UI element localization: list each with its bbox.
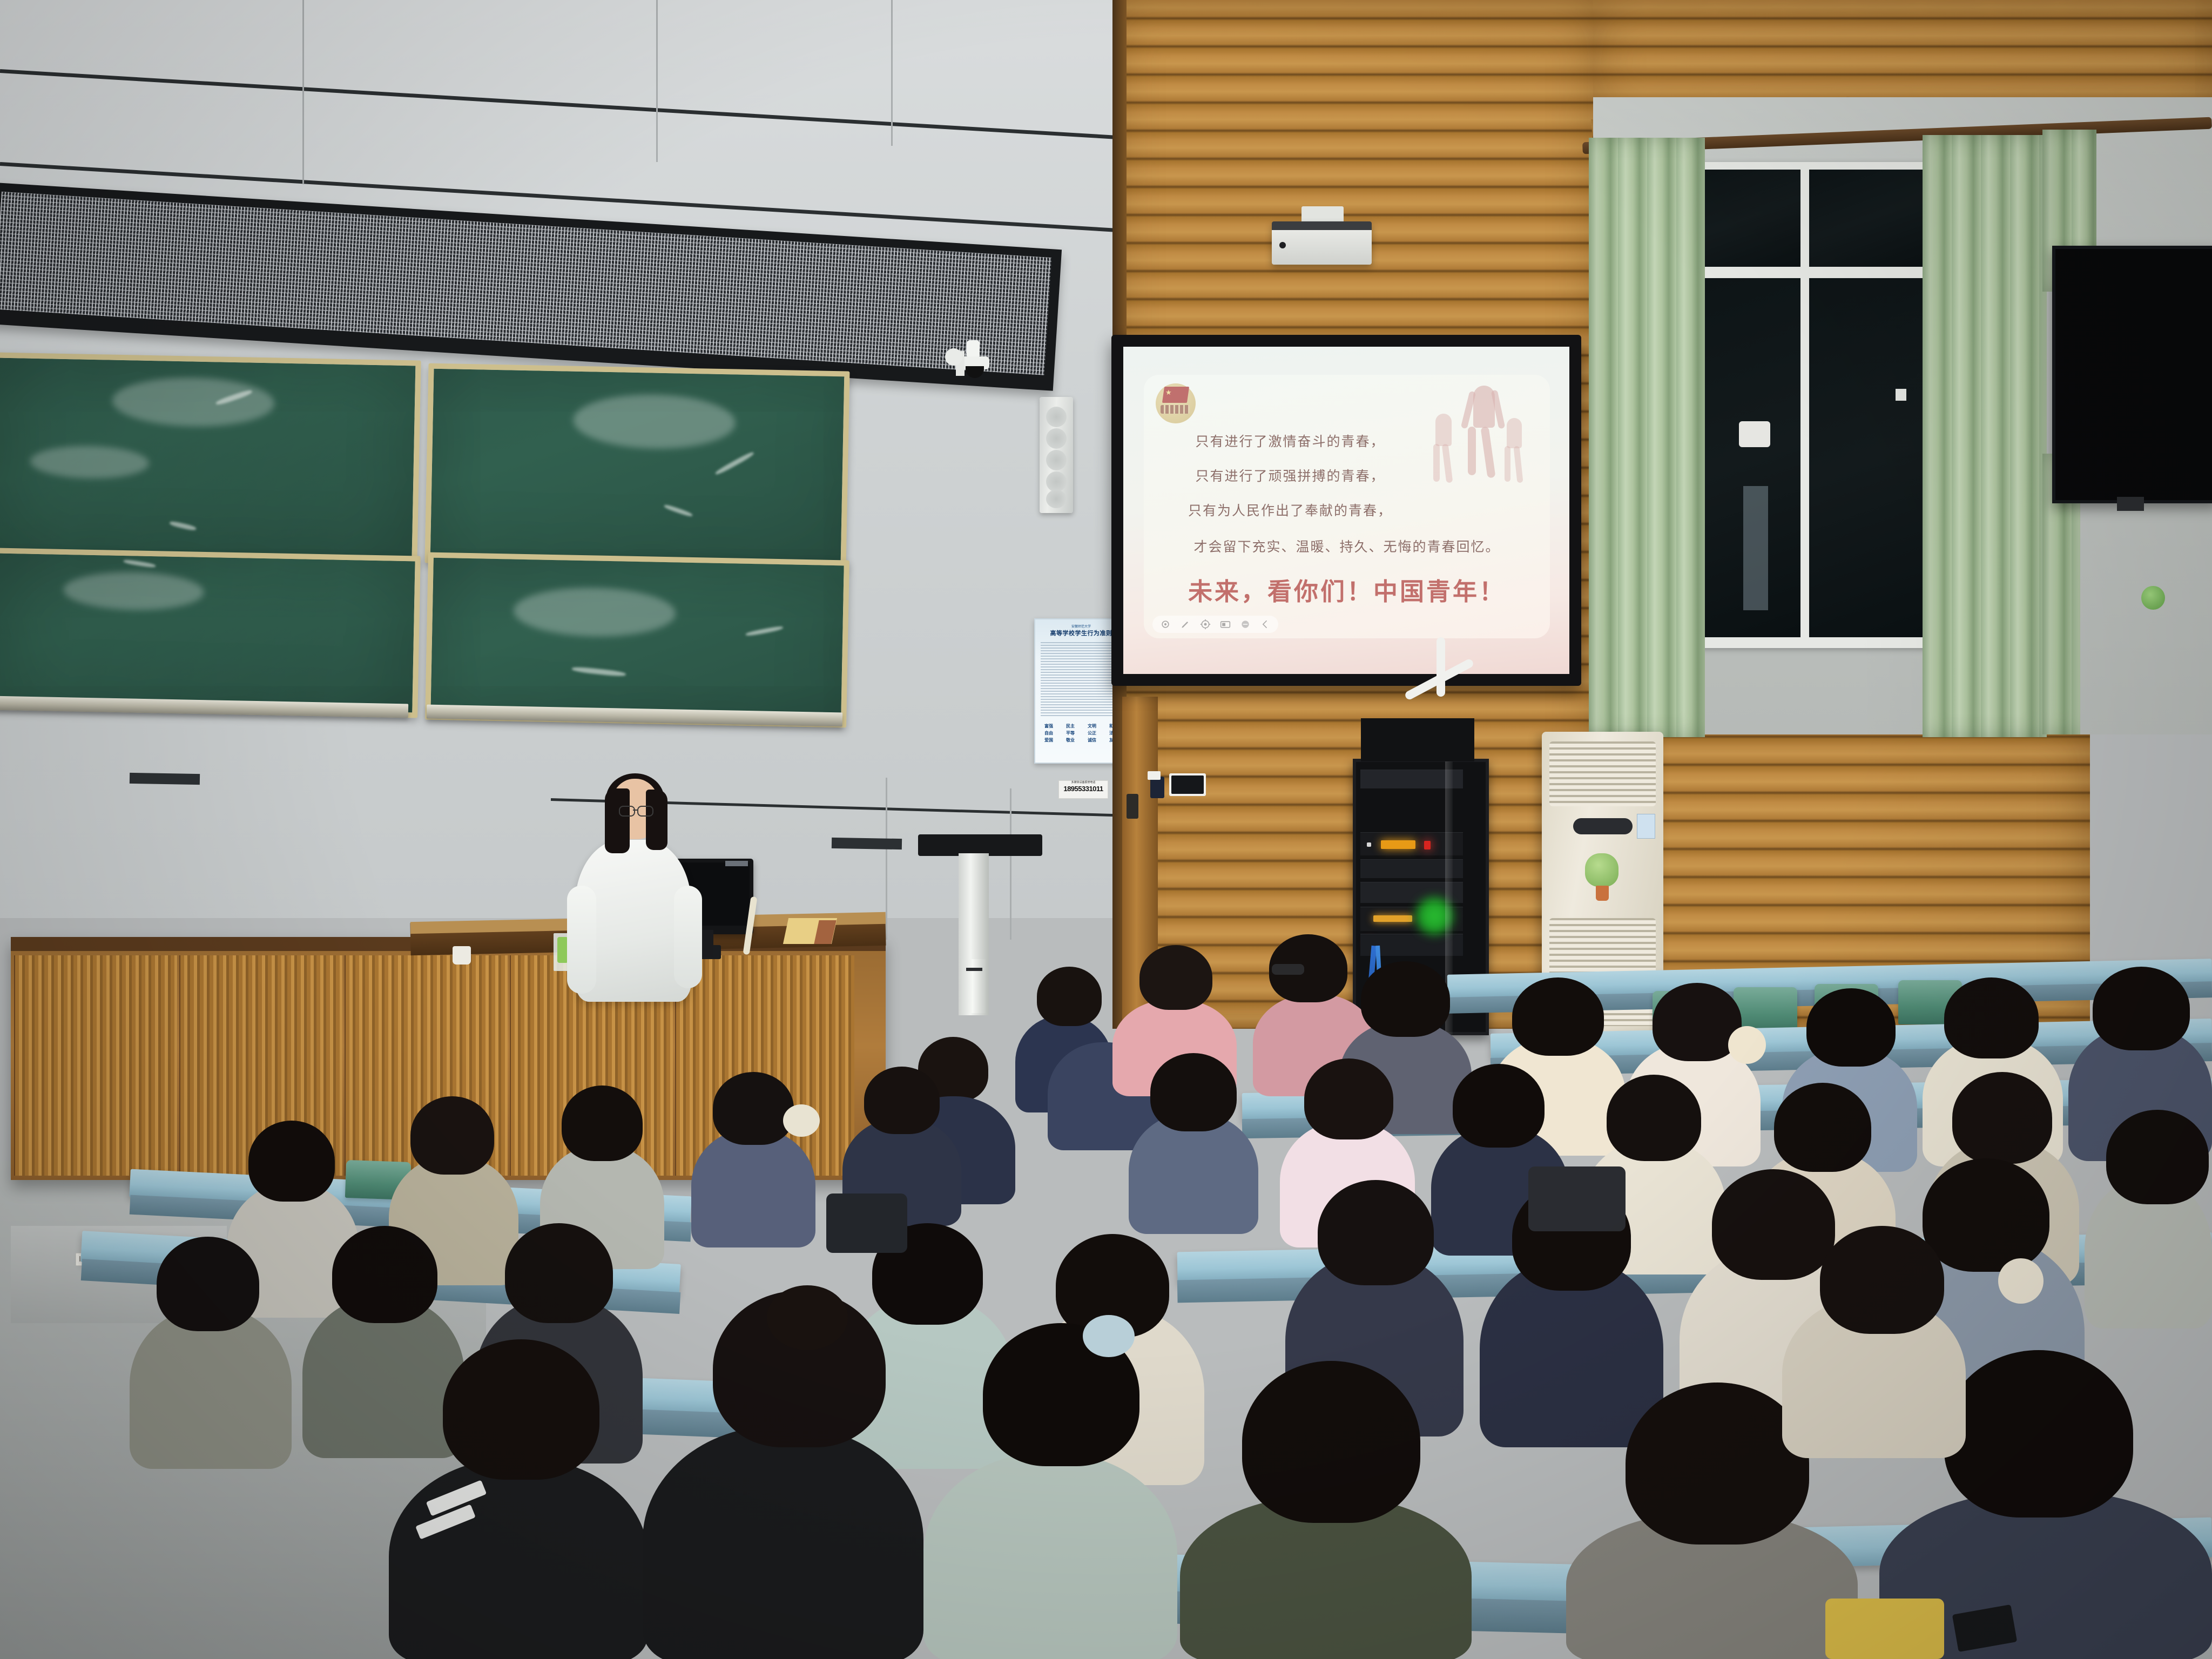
youth-league-emblem-icon: ★ [1156, 383, 1196, 423]
student-body-front [643, 1426, 923, 1659]
tree-decal-icon [2141, 586, 2165, 610]
student-body [130, 1307, 292, 1469]
student-hair [1944, 977, 2039, 1058]
core-value: 文明 [1082, 723, 1102, 729]
student-hair [2106, 1110, 2209, 1204]
wall-speaker [1040, 397, 1073, 513]
student-hair [1453, 1064, 1545, 1148]
window-latch[interactable] [1896, 389, 1906, 401]
presentation-slide: ★ 只有进行了激情奋斗的青春， 只有进行了顽强拼搏的青春， 只有 [1144, 375, 1550, 638]
student-hair [410, 1096, 494, 1175]
core-value: 敬业 [1060, 737, 1081, 743]
pointer-icon[interactable] [1160, 619, 1171, 630]
control-panel[interactable] [1169, 773, 1206, 796]
hair-bow [1998, 1258, 2044, 1304]
student-hair [2093, 967, 2190, 1050]
sticker-phone: 18955331011 [1059, 785, 1108, 793]
curtain-left[interactable] [1589, 138, 1705, 737]
student-hair [864, 1067, 940, 1134]
conduit-pipe [1437, 637, 1445, 697]
student-hair [157, 1237, 259, 1331]
status-led-amber [1373, 915, 1412, 922]
lectern-post [959, 853, 989, 1015]
pen-icon[interactable] [1180, 619, 1191, 630]
window [1685, 162, 1939, 648]
student-hair [1774, 1083, 1871, 1172]
student-hair [1952, 1072, 2052, 1164]
slide-line-4: 才会留下充实、温暖、持久、无悔的青春回忆。 [1144, 528, 1550, 566]
wall-seam [302, 0, 304, 184]
student-hair [713, 1072, 794, 1145]
door-bell[interactable] [1150, 777, 1164, 798]
student-hair [1361, 961, 1450, 1037]
core-value: 诚信 [1082, 737, 1102, 743]
tv-mount [2117, 497, 2144, 511]
student-hair [248, 1121, 335, 1202]
student-hair [1318, 1180, 1434, 1285]
student-glasses-icon [1272, 964, 1304, 975]
repair-phone-sticker: 多媒体设备报修电话 18955331011 [1058, 780, 1108, 799]
lectern-top [918, 834, 1042, 856]
outdoor-light [1739, 421, 1770, 447]
slide-grid-icon[interactable] [1220, 619, 1231, 630]
wall-vent [130, 773, 200, 785]
ac-display [1573, 818, 1633, 834]
hair-clip [1083, 1315, 1135, 1357]
wall-seam [891, 0, 893, 146]
student-hair [1037, 967, 1102, 1026]
presenter-glasses-icon [619, 806, 653, 814]
paper-cup [453, 946, 471, 965]
yellow-item [1825, 1599, 1944, 1659]
curtain-right[interactable] [1923, 135, 2047, 737]
rack-top [1361, 718, 1474, 761]
student-hair [1607, 1075, 1701, 1161]
more-icon[interactable] [1240, 619, 1251, 630]
window-notice [1743, 486, 1768, 610]
core-value: 公正 [1082, 730, 1102, 736]
hair-bun [767, 1285, 848, 1350]
slide-line-1: 只有进行了激情奋斗的青春， [1144, 424, 1550, 459]
projection-screen: ★ 只有进行了激情奋斗的青春， 只有进行了顽强拼搏的青春， 只有 [1111, 335, 1581, 686]
presenter-arm [567, 886, 596, 994]
projector [1272, 221, 1372, 265]
slide-toolbar[interactable] [1152, 616, 1278, 633]
lecture-hall-photo: 安徽师范大学 高等学校学生行为准则 富强 民主 文明 和谐 自由 平等 公正 法… [0, 0, 2212, 1659]
hair-scrunchie [783, 1104, 820, 1137]
student-hair [505, 1223, 613, 1323]
laser-icon[interactable] [1200, 619, 1211, 630]
student-hair [1820, 1226, 1944, 1334]
slide-line-3: 只有为人民作出了奉献的青春， [1144, 494, 1550, 528]
student-hair [1712, 1169, 1835, 1280]
backpack [1528, 1166, 1626, 1231]
student-hair [1512, 977, 1604, 1056]
chalkboard-panel [425, 363, 850, 571]
core-value: 富强 [1038, 723, 1059, 729]
student-hair [1923, 1158, 2049, 1272]
core-value: 自由 [1038, 730, 1059, 736]
hair-bow [1728, 1026, 1766, 1064]
student-hair [562, 1085, 643, 1161]
wall-seam [886, 778, 887, 940]
energy-label [1637, 814, 1655, 839]
flowerpot-decal-icon [1596, 886, 1609, 901]
student-hair [1150, 1053, 1237, 1131]
wall-vent [832, 838, 902, 849]
student-hair [1139, 945, 1212, 1010]
student-hair [1304, 1058, 1393, 1139]
switch-plate[interactable] [1148, 771, 1161, 780]
chalkboard-panel [0, 548, 421, 718]
core-value: 平等 [1060, 730, 1081, 736]
student-body-front [389, 1458, 648, 1659]
slide-line-2: 只有进行了顽强拼搏的青春， [1144, 459, 1550, 494]
chalkboard-panel [425, 552, 849, 728]
presenter-hair-side [646, 790, 667, 850]
student-hair [1806, 988, 1896, 1067]
student-body-front [923, 1453, 1177, 1659]
core-value: 民主 [1060, 723, 1081, 729]
wall-seam [656, 0, 658, 162]
student-hair [443, 1339, 599, 1480]
status-led-amber [1381, 840, 1415, 849]
sticker-caption: 多媒体设备报修电话 [1059, 781, 1108, 785]
backpack [826, 1193, 907, 1253]
presenter-arm [674, 886, 702, 988]
student-body [691, 1129, 815, 1247]
core-value: 爱国 [1038, 737, 1059, 743]
student-hair [1626, 1382, 1809, 1545]
tree-decal-icon [1585, 853, 1618, 887]
student-hair [1944, 1350, 2133, 1518]
wall-mounted-tv [2052, 246, 2212, 503]
chalkboard-panel [0, 352, 421, 565]
wall-seam [1010, 788, 1011, 940]
student-hair [332, 1226, 437, 1323]
presenter-hair-side [605, 788, 630, 853]
student-hair [1242, 1361, 1420, 1523]
back-icon[interactable] [1260, 619, 1271, 630]
status-led-red [1424, 841, 1431, 849]
door-handle [1127, 794, 1138, 819]
slide-headline: 未来，看你们！中国青年！ [1144, 566, 1550, 618]
smoke-detector-icon [945, 348, 962, 366]
